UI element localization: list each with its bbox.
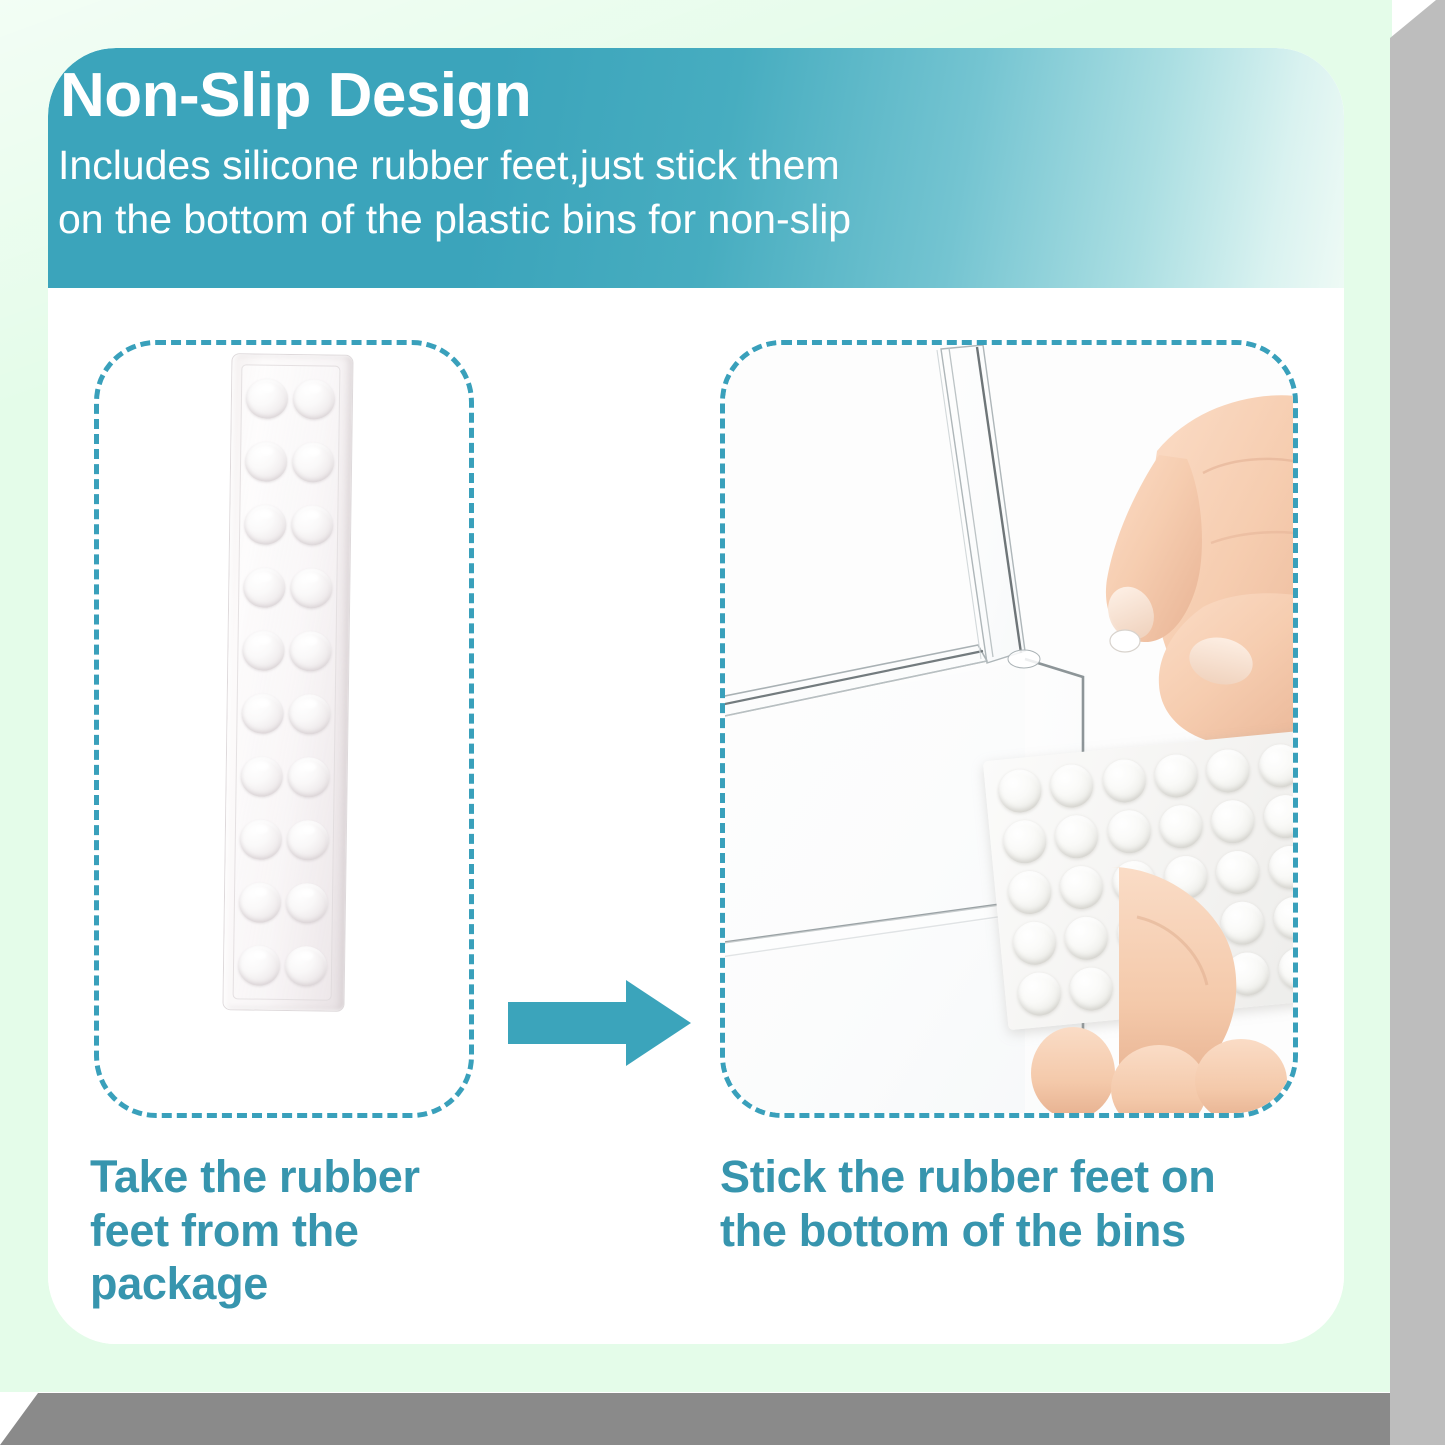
rubber-foot-dome	[241, 556, 288, 619]
rubber-foot-dome	[238, 745, 285, 808]
rubber-foot-dome	[283, 872, 330, 935]
rubber-foot-dome	[288, 557, 335, 620]
rubber-feet-package-panel	[94, 340, 474, 1118]
sticking-feet-on-bin-panel	[720, 340, 1298, 1118]
rubber-foot-dome	[286, 683, 333, 746]
blister-dome-grid	[233, 364, 341, 1000]
infographic-card: Non-Slip Design Includes silicone rubber…	[48, 48, 1344, 1344]
rubber-foot-dome	[287, 620, 334, 683]
rubber-foot-dome	[283, 935, 330, 998]
rubber-foot-dome	[1149, 750, 1204, 803]
header-banner: Non-Slip Design Includes silicone rubber…	[48, 48, 1344, 288]
rubber-foot-dome	[244, 367, 291, 430]
rubber-foot-dome	[290, 431, 337, 494]
rubber-foot-dome	[1258, 790, 1298, 843]
rubber-foot-dome	[1045, 760, 1100, 813]
rubber-foot-dome	[993, 765, 1048, 818]
rubber-foot-dome	[1206, 795, 1261, 848]
rubber-foot-dome	[1097, 755, 1152, 808]
step-flow-arrow	[508, 978, 691, 1068]
rubber-foot-dome	[1154, 800, 1209, 853]
rubber-foot-dome	[236, 871, 283, 934]
bin-and-hands-scene	[725, 345, 1293, 1113]
steps-area: Take the rubber feet from the package St…	[48, 288, 1344, 1344]
step-1-caption: Take the rubber feet from the package	[90, 1150, 510, 1311]
rubber-foot-dome	[291, 368, 338, 431]
rubber-foot-dome	[289, 494, 336, 557]
blister-package-strip	[223, 354, 352, 1011]
rubber-foot-dome	[1253, 740, 1298, 793]
frame-right-bar	[1390, 0, 1445, 1445]
rubber-foot-dome	[285, 746, 332, 809]
page-title: Non-Slip Design	[60, 64, 1344, 127]
frame-bottom-bar	[0, 1393, 1445, 1445]
rubber-foot-dome	[240, 619, 287, 682]
rubber-foot-dome	[1201, 745, 1256, 798]
rubber-foot-dome	[242, 493, 289, 556]
rubber-foot-dome	[998, 815, 1053, 868]
header-subtitle: Includes silicone rubber feet,just stick…	[58, 139, 1344, 246]
rubber-foot-dome	[1050, 810, 1105, 863]
rubber-foot-dome	[1102, 805, 1157, 858]
step-2-caption: Stick the rubber feet on the bottom of t…	[720, 1150, 1320, 1257]
rubber-foot-dome	[284, 809, 331, 872]
hand-holding-sheet	[1025, 865, 1298, 1118]
rubber-foot-dome	[239, 682, 286, 745]
rubber-foot-dome	[237, 808, 284, 871]
rubber-foot-dome	[236, 934, 283, 997]
hand-pressing-foot	[1007, 355, 1298, 785]
rubber-foot-dome	[243, 430, 290, 493]
